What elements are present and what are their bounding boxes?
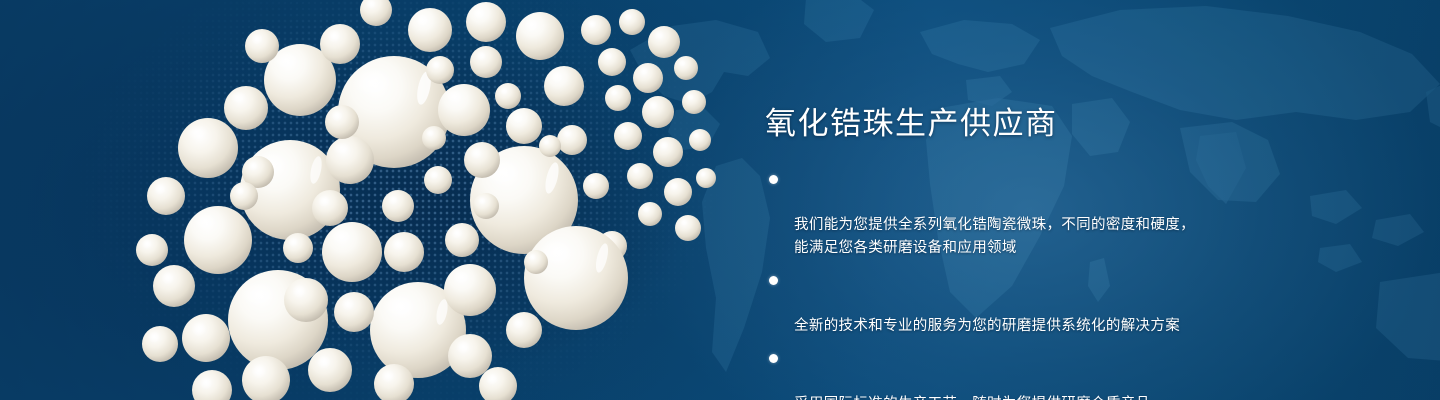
list-item-text: 全新的技术和专业的服务为您的研磨提供系统化的解决方案	[794, 318, 1180, 334]
banner-copy: 氧化锆珠生产供应商 我们能为您提供全系列氧化锆陶瓷微珠，不同的密度和硬度， 能满…	[765, 104, 1365, 400]
bullet-dot-icon	[769, 175, 778, 184]
list-item: 采用国际标准的生产工艺，随时为您提供研磨介质产品	[765, 347, 1365, 400]
list-item-text: 我们能为您提供全系列氧化锆陶瓷微珠，不同的密度和硬度， 能满足您各类研磨设备和应…	[794, 217, 1195, 256]
page-title: 氧化锆珠生产供应商	[765, 104, 1365, 144]
list-item: 全新的技术和专业的服务为您的研磨提供系统化的解决方案	[765, 269, 1365, 338]
hero-banner: 氧化锆珠生产供应商 我们能为您提供全系列氧化锆陶瓷微珠，不同的密度和硬度， 能满…	[0, 0, 1440, 400]
bullet-dot-icon	[769, 276, 778, 285]
list-item-text: 采用国际标准的生产工艺，随时为您提供研磨介质产品	[794, 396, 1150, 400]
zirconia-beads-image	[0, 0, 780, 400]
list-item: 我们能为您提供全系列氧化锆陶瓷微珠，不同的密度和硬度， 能满足您各类研磨设备和应…	[765, 168, 1365, 260]
feature-list: 我们能为您提供全系列氧化锆陶瓷微珠，不同的密度和硬度， 能满足您各类研磨设备和应…	[765, 168, 1365, 400]
bullet-dot-icon	[769, 354, 778, 363]
